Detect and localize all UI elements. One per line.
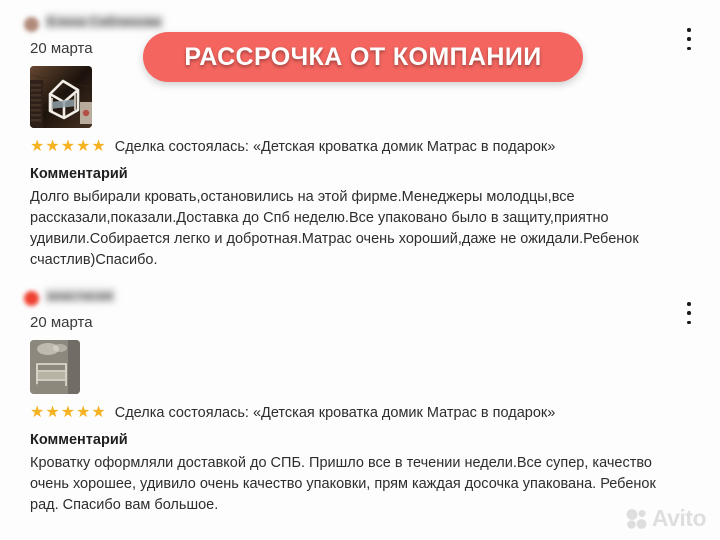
avito-watermark-text: Avito [652, 505, 706, 532]
kebab-dot [687, 311, 691, 315]
review-photo-image [30, 340, 80, 394]
comment-label: Комментарий [30, 166, 720, 182]
avito-watermark: Avito [625, 505, 706, 532]
comment-text: Кроватку оформляли доставкой до СПБ. При… [30, 453, 670, 516]
kebab-menu-icon[interactable] [680, 300, 698, 326]
review-photo[interactable] [30, 340, 80, 394]
review-date: 20 марта [30, 314, 720, 331]
star-icon: ★ [45, 405, 59, 421]
comment-text: Долго выбирали кровать,остановились на э… [30, 187, 670, 271]
review-photo[interactable] [30, 66, 92, 128]
star-rating: ★ ★ ★ ★ ★ [30, 405, 106, 421]
deal-status-text: Сделка состоялась: «Детская кроватка дом… [115, 405, 556, 421]
star-icon: ★ [45, 139, 59, 155]
author-name: Елена Саблинова [45, 14, 163, 29]
deal-status-text: Сделка состоялась: «Детская кроватка дом… [115, 139, 556, 155]
star-icon: ★ [61, 139, 75, 155]
kebab-dot [687, 37, 691, 41]
reviews-page: РАССРОЧКА ОТ КОМПАНИИ Елена Саблинова 20… [0, 0, 720, 540]
promo-banner-text: РАССРОЧКА ОТ КОМПАНИИ [184, 43, 541, 72]
kebab-menu-icon[interactable] [680, 26, 698, 52]
star-icon: ★ [61, 405, 75, 421]
kebab-dot [687, 302, 691, 306]
star-icon: ★ [76, 405, 90, 421]
star-icon: ★ [91, 139, 105, 155]
kebab-dot [687, 28, 691, 32]
kebab-dot [687, 47, 691, 51]
avatar [24, 291, 39, 306]
rating-row: ★ ★ ★ ★ ★ Сделка состоялась: «Детская кр… [30, 405, 720, 421]
author-name: анастасия [45, 288, 115, 303]
kebab-dot [687, 321, 691, 325]
rating-row: ★ ★ ★ ★ ★ Сделка состоялась: «Детская кр… [30, 139, 720, 155]
star-icon: ★ [30, 139, 44, 155]
avito-logo-icon [625, 507, 649, 531]
review-photo-image [30, 66, 92, 128]
avatar [24, 17, 39, 32]
comment-label: Комментарий [30, 432, 720, 448]
promo-banner: РАССРОЧКА ОТ КОМПАНИИ [143, 32, 583, 82]
star-icon: ★ [91, 405, 105, 421]
star-icon: ★ [30, 405, 44, 421]
review-header: анастасия [0, 288, 720, 310]
star-rating: ★ ★ ★ ★ ★ [30, 139, 106, 155]
star-icon: ★ [76, 139, 90, 155]
review-item: анастасия 20 марта [0, 288, 720, 516]
